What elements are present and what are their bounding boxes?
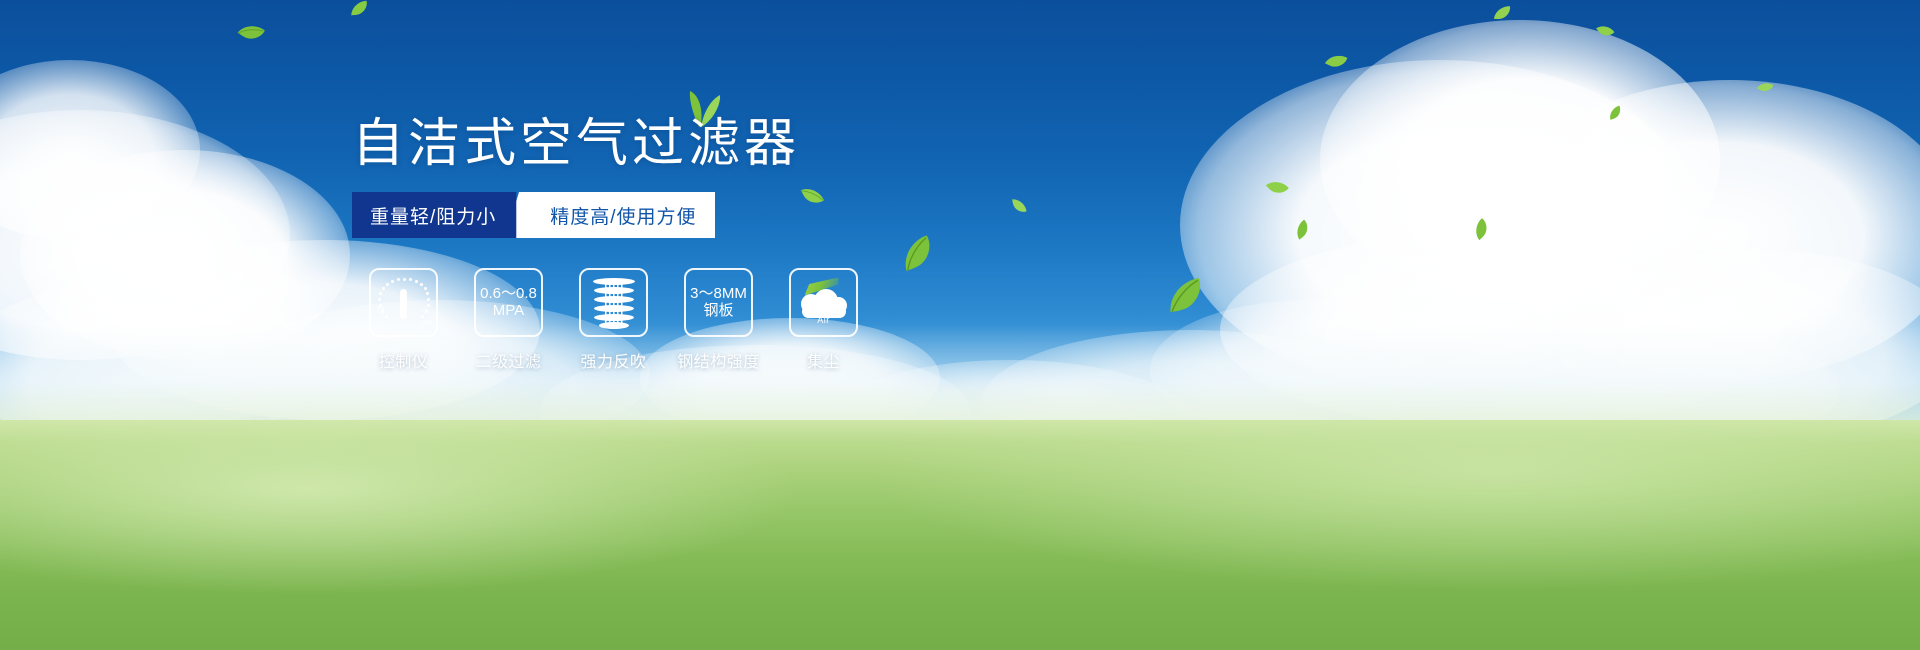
steel-value-line1: 3～8MM (690, 286, 747, 303)
badge-weight-resistance[interactable]: 重量轻/阻力小 (352, 192, 516, 238)
feature-label: 钢结构强度 (677, 348, 760, 372)
badge-precision-usability[interactable]: 精度高/使用方便 (524, 192, 714, 238)
feature-label: 强力反吹 (580, 348, 646, 372)
feature-box: Air (789, 268, 858, 337)
gauge-label-no: NO (377, 306, 385, 312)
feature-box: 0.6～0.8 MPA (474, 268, 543, 337)
gauge-needle (400, 289, 407, 319)
feature-box: 3～8MM 钢板 (684, 268, 753, 337)
feature-box (579, 268, 648, 337)
feature-item-control-gauge[interactable]: NO OFF 控制仪 (352, 268, 455, 372)
pressure-value-line1: 0.6～0.8 (480, 286, 537, 303)
feature-item-steel-plate[interactable]: 3～8MM 钢板 钢结构强度 (667, 268, 770, 372)
product-banner: 自洁式空气过滤器 重量轻/阻力小 精度高/使用方便 (0, 0, 1920, 650)
steel-value-line2: 钢板 (703, 303, 733, 320)
reverse-blow-icon (590, 278, 638, 328)
feature-label: 二级过滤 (475, 348, 541, 372)
control-gauge-icon: NO OFF (378, 277, 430, 329)
pressure-value-line2: MPA (493, 303, 524, 320)
feature-box: NO OFF (369, 268, 438, 337)
feature-item-dust-collection[interactable]: Air 集尘 (772, 268, 875, 372)
banner-content: 自洁式空气过滤器 重量轻/阻力小 精度高/使用方便 (0, 0, 1920, 650)
page-title: 自洁式空气过滤器 (352, 118, 800, 170)
gauge-label-off: OFF (422, 321, 433, 327)
feature-item-reverse-blow[interactable]: 强力反吹 (562, 268, 665, 372)
feature-label: 控制仪 (379, 348, 429, 372)
air-label: Air (797, 315, 851, 325)
feature-badge-group: 重量轻/阻力小 精度高/使用方便 (352, 192, 715, 238)
feature-label: 集尘 (807, 348, 840, 372)
feature-item-pressure[interactable]: 0.6～0.8 MPA 二级过滤 (457, 268, 560, 372)
air-cloud-icon: Air (797, 280, 851, 326)
feature-icon-row: NO OFF 控制仪 0.6～0.8 MPA 二级过滤 (352, 268, 877, 372)
